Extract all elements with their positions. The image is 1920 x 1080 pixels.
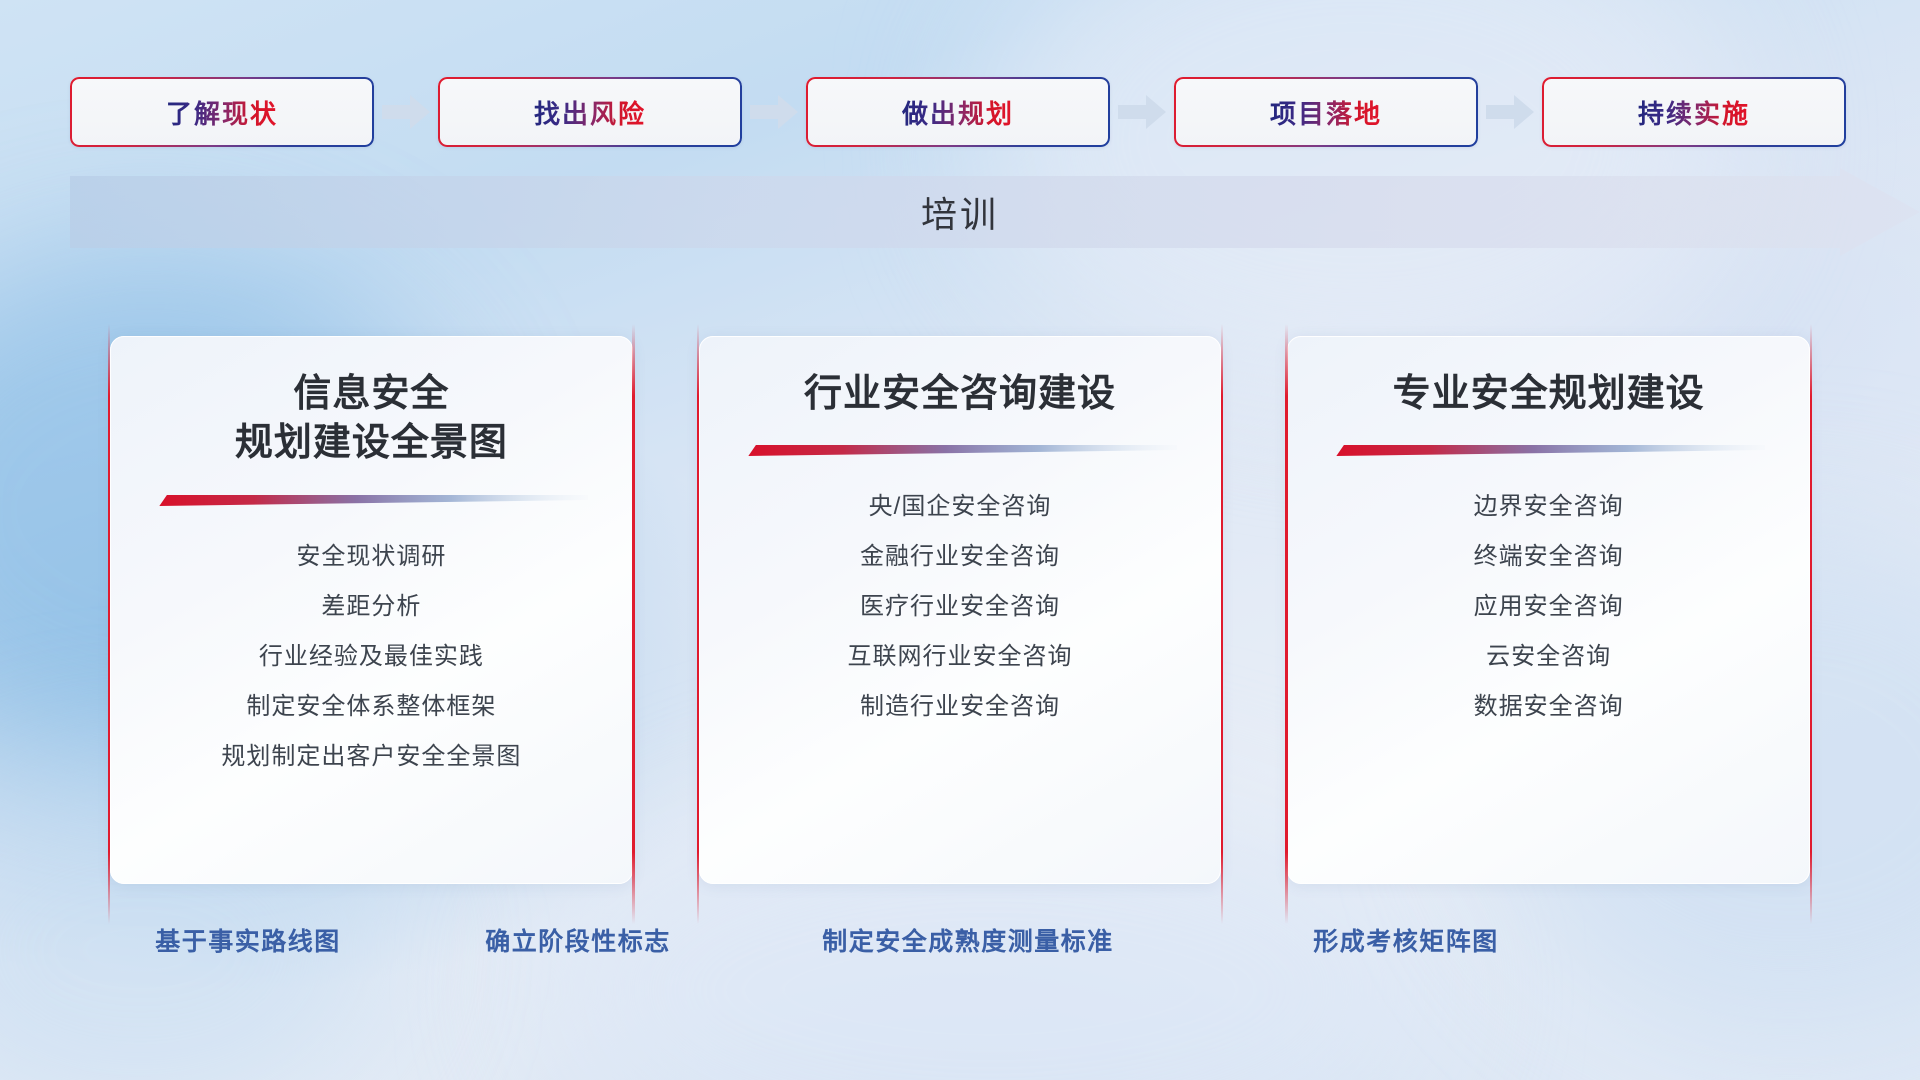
list-item: 医疗行业安全咨询 [725, 582, 1196, 632]
chevron-right-arrow-icon [1110, 77, 1174, 147]
list-item: 制造行业安全咨询 [725, 682, 1196, 732]
list-item: 互联网行业安全咨询 [725, 632, 1196, 682]
list-item: 差距分析 [136, 582, 607, 632]
list-item: 终端安全咨询 [1313, 532, 1784, 582]
card-title: 行业安全咨询建设 [725, 370, 1196, 419]
card-item-list: 边界安全咨询 终端安全咨询 应用安全咨询 云安全咨询 数据安全咨询 [1313, 482, 1784, 732]
card-accent-edge-right [632, 324, 634, 924]
list-item: 数据安全咨询 [1313, 682, 1784, 732]
caption-2: 确立阶段性标志 [485, 922, 671, 958]
card-title: 信息安全 规划建设全景图 [136, 370, 607, 469]
training-banner: 培训 [70, 168, 1920, 256]
chevron-right-arrow-icon [1478, 77, 1542, 147]
card-panel[interactable]: 专业安全规划建设 [1287, 336, 1810, 884]
gradient-accent-line-icon [155, 495, 588, 506]
card-title: 专业安全规划建设 [1313, 370, 1784, 419]
step-item-2[interactable]: 找出风险 [438, 77, 742, 147]
step-item-5[interactable]: 持续实施 [1542, 77, 1846, 147]
caption-3: 制定安全成熟度测量标准 [822, 922, 1114, 958]
step-label: 项目落地 [1270, 94, 1382, 131]
card-panel[interactable]: 信息安全 规划建设全景图 [110, 336, 633, 884]
step-item-3[interactable]: 做出规划 [806, 77, 1110, 147]
caption-row: 基于事实路线图 确立阶段性标志 制定安全成熟度测量标准 形成考核矩阵图 [0, 922, 1920, 966]
list-item: 央/国企安全咨询 [725, 482, 1196, 532]
card-accent-edge-right [1810, 324, 1812, 924]
list-item: 云安全咨询 [1313, 632, 1784, 682]
caption-4: 形成考核矩阵图 [1313, 922, 1499, 958]
banner-title: 培训 [70, 168, 1850, 256]
card-accent-edge-left [697, 324, 699, 924]
card-accent-edge-left [108, 324, 110, 924]
slide-canvas: 了解现状 找出风险 做出规划 项目落地 [0, 0, 1920, 1080]
step-label: 找出风险 [534, 94, 646, 131]
card-panel[interactable]: 行业安全咨询建设 [699, 336, 1222, 884]
chevron-right-arrow-icon [374, 77, 438, 147]
chevron-right-arrow-icon [742, 77, 806, 147]
process-step-row: 了解现状 找出风险 做出规划 项目落地 [70, 76, 1850, 148]
list-item: 金融行业安全咨询 [725, 532, 1196, 582]
step-label: 持续实施 [1638, 94, 1750, 131]
card-item-list: 央/国企安全咨询 金融行业安全咨询 医疗行业安全咨询 互联网行业安全咨询 制造行… [725, 482, 1196, 732]
step-label: 了解现状 [166, 94, 278, 131]
gradient-accent-line-icon [744, 445, 1177, 456]
step-item-1[interactable]: 了解现状 [70, 77, 374, 147]
card-row: 信息安全 规划建设全景图 [110, 336, 1810, 884]
step-item-4[interactable]: 项目落地 [1174, 77, 1478, 147]
list-item: 规划制定出客户安全全景图 [136, 732, 607, 782]
list-item: 安全现状调研 [136, 532, 607, 582]
list-item: 边界安全咨询 [1313, 482, 1784, 532]
card-accent-edge-right [1221, 324, 1223, 924]
caption-1: 基于事实路线图 [155, 922, 341, 958]
list-item: 应用安全咨询 [1313, 582, 1784, 632]
gradient-accent-line-icon [1332, 445, 1765, 456]
card-accent-edge-left [1285, 324, 1287, 924]
list-item: 行业经验及最佳实践 [136, 632, 607, 682]
step-label: 做出规划 [902, 94, 1014, 131]
card-item-list: 安全现状调研 差距分析 行业经验及最佳实践 制定安全体系整体框架 规划制定出客户… [136, 532, 607, 782]
list-item: 制定安全体系整体框架 [136, 682, 607, 732]
